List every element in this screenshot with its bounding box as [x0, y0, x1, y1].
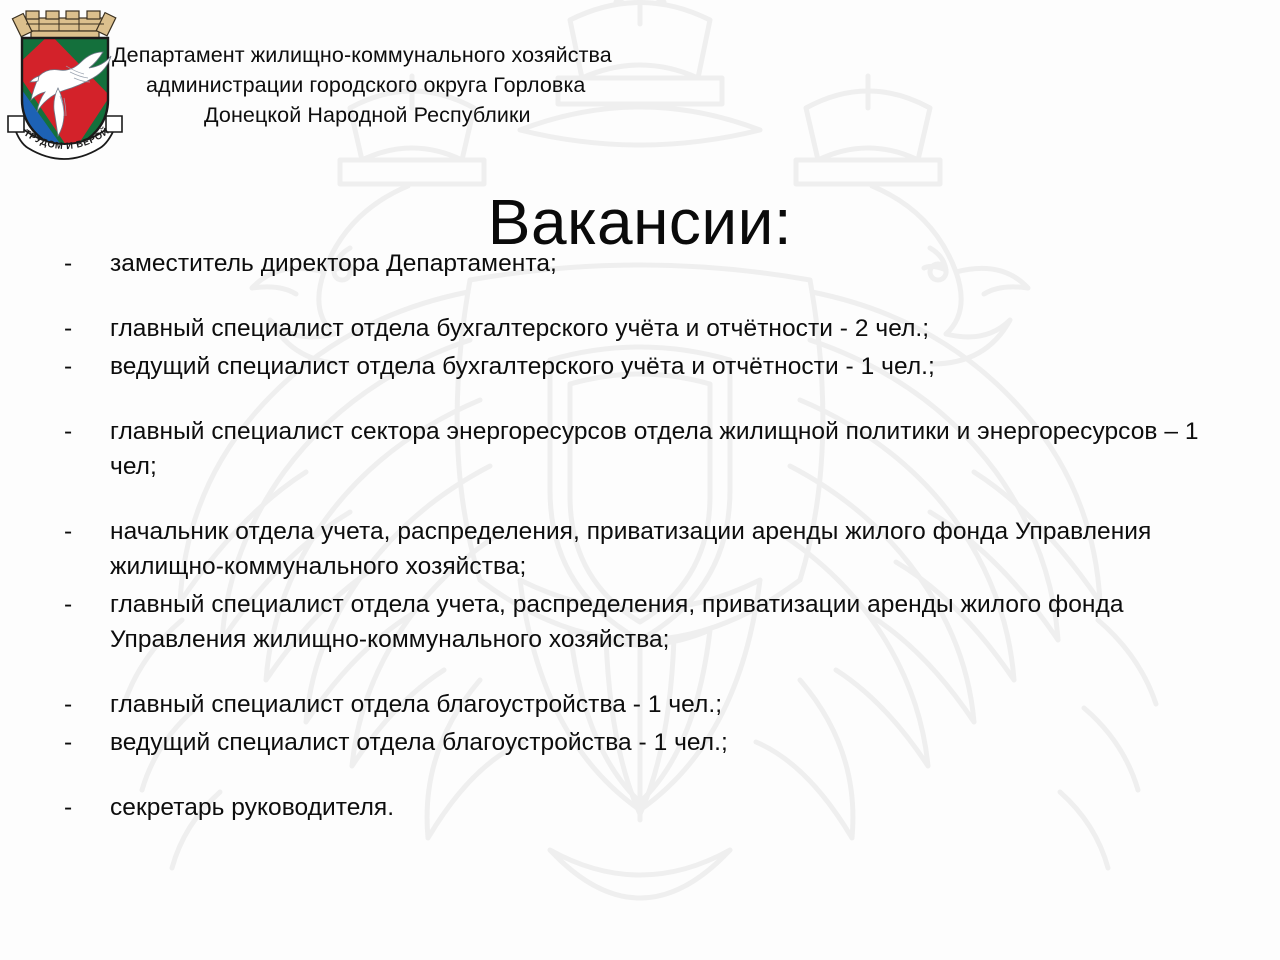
vacancy-list: - заместитель директора Департамента; - …: [62, 246, 1232, 825]
vacancy-group: - начальник отдела учета, распределения,…: [62, 514, 1232, 657]
slide-header: ТРУДОМ И ВЕРОЙ Департамент жилищно-комму…: [0, 0, 1280, 170]
list-item: - секретарь руководителя.: [62, 790, 1232, 825]
bullet-dash: -: [64, 687, 82, 722]
vacancy-group: - главный специалист отдела благоустройс…: [62, 687, 1232, 760]
bullet-dash: -: [64, 514, 82, 549]
list-item: - заместитель директора Департамента;: [62, 246, 1232, 281]
vacancy-group: - заместитель директора Департамента;: [62, 246, 1232, 281]
list-item-label: заместитель директора Департамента;: [110, 246, 1232, 281]
bullet-dash: -: [64, 349, 82, 384]
bullet-dash: -: [64, 790, 82, 825]
bullet-dash: -: [64, 725, 82, 760]
coat-of-arms-gorlovka-icon: ТРУДОМ И ВЕРОЙ: [6, 4, 124, 164]
list-item-label: ведущий специалист отдела бухгалтерского…: [110, 349, 1232, 384]
list-item-label: главный специалист отдела учета, распред…: [110, 587, 1232, 657]
list-item-label: секретарь руководителя.: [110, 790, 1232, 825]
bullet-dash: -: [64, 246, 82, 281]
list-item-label: главный специалист отдела благоустройств…: [110, 687, 1232, 722]
bullet-dash: -: [64, 311, 82, 346]
slide-canvas: ТРУДОМ И ВЕРОЙ Департамент жилищно-комму…: [0, 0, 1280, 960]
list-item: - ведущий специалист отдела бухгалтерско…: [62, 349, 1232, 384]
list-item: - главный специалист отдела бухгалтерско…: [62, 311, 1232, 346]
organization-title-line3: Донецкой Народной Республики: [112, 100, 712, 130]
organization-title-line1: Департамент жилищно-коммунального хозяйс…: [112, 40, 712, 70]
list-item-label: главный специалист сектора энергоресурсо…: [110, 414, 1232, 484]
organization-title: Департамент жилищно-коммунального хозяйс…: [112, 40, 712, 130]
vacancy-group: - секретарь руководителя.: [62, 790, 1232, 825]
organization-title-line2: администрации городского округа Горловка: [112, 70, 712, 100]
list-item-label: начальник отдела учета, распределения, п…: [110, 514, 1232, 584]
bullet-dash: -: [64, 587, 82, 622]
list-item: - главный специалист сектора энергоресур…: [62, 414, 1232, 484]
list-item-label: главный специалист отдела бухгалтерского…: [110, 311, 1232, 346]
list-item-label: ведущий специалист отдела благоустройств…: [110, 725, 1232, 760]
vacancy-group: - главный специалист отдела бухгалтерско…: [62, 311, 1232, 384]
list-item: - главный специалист отдела благоустройс…: [62, 687, 1232, 722]
vacancy-group: - главный специалист сектора энергоресур…: [62, 414, 1232, 484]
list-item: - ведущий специалист отдела благоустройс…: [62, 725, 1232, 760]
list-item: - начальник отдела учета, распределения,…: [62, 514, 1232, 584]
list-item: - главный специалист отдела учета, распр…: [62, 587, 1232, 657]
bullet-dash: -: [64, 414, 82, 449]
